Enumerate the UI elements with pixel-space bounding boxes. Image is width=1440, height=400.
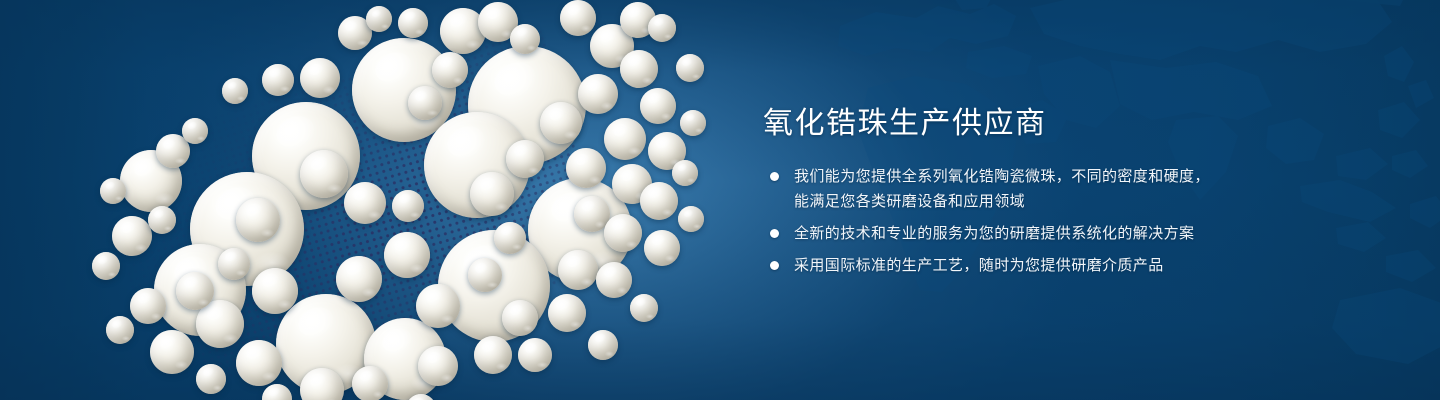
list-item: 我们能为您提供全系列氧化锆陶瓷微珠，不同的密度和硬度， 能满足您各类研磨设备和应… bbox=[763, 164, 1223, 214]
list-item-line: 全新的技术和专业的服务为您的研磨提供系统化的解决方案 bbox=[794, 221, 1223, 246]
bullet-dot-icon bbox=[770, 172, 779, 181]
hero-banner: 氧化锆珠生产供应商 我们能为您提供全系列氧化锆陶瓷微珠，不同的密度和硬度， 能满… bbox=[0, 0, 1440, 400]
list-item-line: 采用国际标准的生产工艺，随时为您提供研磨介质产品 bbox=[794, 253, 1223, 278]
background-vertical-shade bbox=[0, 0, 1440, 400]
bullet-dot-icon bbox=[770, 229, 779, 238]
banner-copy: 氧化锆珠生产供应商 我们能为您提供全系列氧化锆陶瓷微珠，不同的密度和硬度， 能满… bbox=[763, 104, 1223, 278]
list-item-line: 我们能为您提供全系列氧化锆陶瓷微珠，不同的密度和硬度， bbox=[794, 164, 1223, 189]
feature-list: 我们能为您提供全系列氧化锆陶瓷微珠，不同的密度和硬度， 能满足您各类研磨设备和应… bbox=[763, 164, 1223, 278]
list-item: 采用国际标准的生产工艺，随时为您提供研磨介质产品 bbox=[763, 253, 1223, 278]
list-item: 全新的技术和专业的服务为您的研磨提供系统化的解决方案 bbox=[763, 221, 1223, 246]
list-item-line: 能满足您各类研磨设备和应用领域 bbox=[794, 189, 1223, 214]
bullet-dot-icon bbox=[770, 261, 779, 270]
page-title: 氧化锆珠生产供应商 bbox=[763, 104, 1223, 144]
